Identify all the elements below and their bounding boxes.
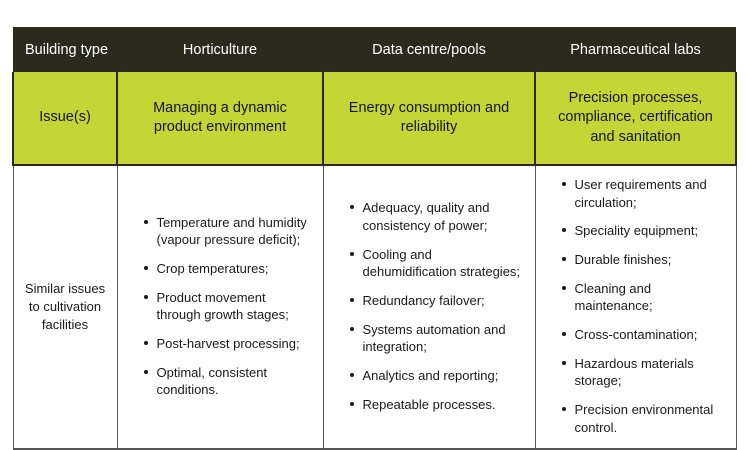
column-header-building-type: Building type [13,27,117,72]
issues-cell-horticulture: Managing a dynamic product environment [117,72,323,165]
bullet-item: Cleaning and maintenance; [562,280,726,315]
bullet-item: Adequacy, quality and consistency of pow… [350,199,525,234]
building-type-issues-table: Building type Horticulture Data centre/p… [12,27,737,450]
bullet-item: Product movement through growth stages; [144,289,313,324]
bullet-item: Hazardous materials storage; [562,355,726,390]
table-header-row: Building type Horticulture Data centre/p… [13,27,736,72]
row-label-issues: Issue(s) [13,72,117,165]
bullet-item: Post-harvest processing; [144,335,313,353]
bullet-list-data-centre-pools: Adequacy, quality and consistency of pow… [334,199,525,413]
bullet-item: Durable finishes; [562,251,726,269]
table-row-issues: Issue(s) Managing a dynamic product envi… [13,72,736,165]
bullet-item: Precision environmental control. [562,401,726,436]
bullets-cell-horticulture: Temperature and humidity (vapour pressur… [117,165,323,449]
bullet-list-pharmaceutical-labs: User requirements and circulation;Specia… [546,176,726,436]
table-row-similar-issues: Similar issues to cultivation facilities… [13,165,736,449]
bullet-item: Redundancy failover; [350,292,525,310]
bullet-item: Optimal, consistent conditions. [144,364,313,399]
bullet-item: Crop temperatures; [144,260,313,278]
comparison-table-container: Building type Horticulture Data centre/p… [12,27,735,450]
bullet-item: Cross-contamination; [562,326,726,344]
issues-cell-data-centre-pools: Energy consumption and reliability [323,72,535,165]
bullet-item: Repeatable processes. [350,396,525,414]
bullet-item: Temperature and humidity (vapour pressur… [144,214,313,249]
bullet-item: Speciality equipment; [562,222,726,240]
column-header-horticulture: Horticulture [117,27,323,72]
issues-cell-pharmaceutical-labs: Precision processes, compliance, certifi… [535,72,736,165]
bullets-cell-data-centre-pools: Adequacy, quality and consistency of pow… [323,165,535,449]
bullet-item: Cooling and dehumidification strategies; [350,246,525,281]
page-root: Building type Horticulture Data centre/p… [0,0,747,420]
bullet-item: Systems automation and integration; [350,321,525,356]
bullet-item: User requirements and circulation; [562,176,726,211]
bullets-cell-pharmaceutical-labs: User requirements and circulation;Specia… [535,165,736,449]
column-header-data-centre-pools: Data centre/pools [323,27,535,72]
bullet-list-horticulture: Temperature and humidity (vapour pressur… [128,214,313,399]
bullet-item: Analytics and reporting; [350,367,525,385]
row-label-similar-issues: Similar issues to cultivation facilities [13,165,117,449]
column-header-pharmaceutical-labs: Pharmaceutical labs [535,27,736,72]
